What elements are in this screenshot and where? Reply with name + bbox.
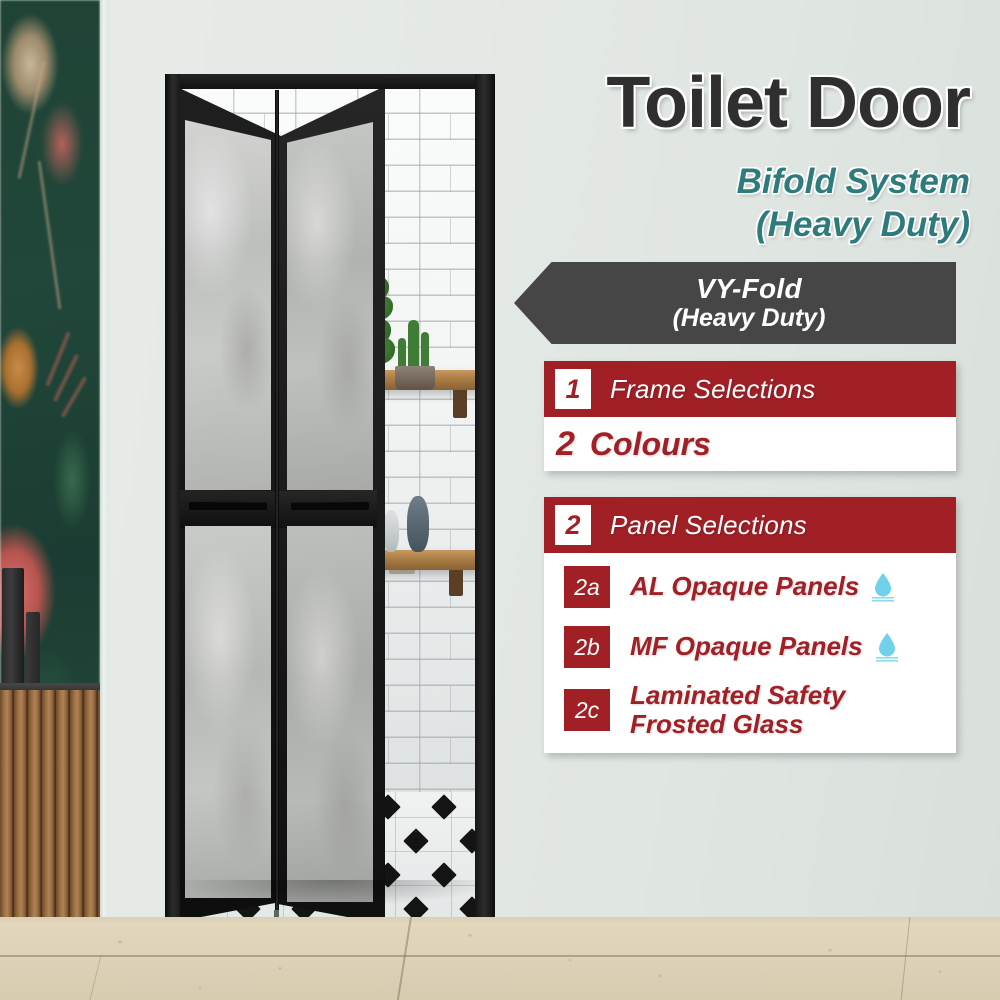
- promo-panel: Toilet Door Bifold System (Heavy Duty) V…: [500, 0, 1000, 1000]
- product-title: Toilet Door: [500, 62, 970, 144]
- door-frame-top: [165, 74, 495, 89]
- frame-selections-card: 1 Frame Selections 2 Colours: [544, 361, 956, 471]
- subtitle-line-2: (Heavy Duty): [500, 203, 970, 246]
- door-midrail-groove-right: [291, 502, 369, 510]
- panel-selections-card: 2 Panel Selections 2a AL Opaque Panels 2…: [544, 497, 956, 753]
- panel-option-2a[interactable]: 2a AL Opaque Panels: [544, 561, 956, 613]
- panel-selections-header: 2 Panel Selections: [544, 497, 956, 553]
- water-drop-icon: [870, 572, 896, 602]
- frame-colour-label: Colours: [590, 426, 711, 463]
- subtitle-line-1: Bifold System: [500, 160, 970, 203]
- door-frame-left: [165, 74, 180, 924]
- panel-option-2b-badge: 2b: [564, 626, 610, 668]
- frame-step-number: 1: [555, 369, 591, 409]
- panel-option-2b-label: MF Opaque Panels: [630, 632, 863, 661]
- panel-option-2a-badge: 2a: [564, 566, 610, 608]
- panel-option-2b[interactable]: 2b MF Opaque Panels: [544, 621, 956, 673]
- wood-slat-console: [0, 690, 100, 920]
- product-subtitle: Bifold System (Heavy Duty): [500, 160, 970, 247]
- frame-colour-row: 2 Colours: [544, 417, 956, 471]
- console-object-short: [26, 612, 40, 688]
- water-drop-icon: [874, 632, 900, 662]
- door-panel-left-upper: [185, 120, 271, 490]
- door-panel-right-upper: [287, 122, 373, 490]
- model-ribbon-banner: VY-Fold (Heavy Duty): [514, 262, 956, 344]
- panel-option-2c-label: Laminated Safety Frosted Glass: [630, 681, 845, 739]
- panel-step-number: 2: [555, 505, 591, 545]
- frame-selections-title: Frame Selections: [610, 374, 816, 405]
- door-center-hinge: [275, 90, 279, 924]
- panel-option-2c-badge: 2c: [564, 689, 610, 731]
- door-midrail-groove-left: [189, 502, 267, 510]
- door-floor-shadow: [175, 880, 495, 906]
- door-frame-right: [475, 74, 495, 924]
- panel-option-2c-label-line1: Laminated Safety: [630, 681, 845, 710]
- model-duty-rating: (Heavy Duty): [645, 304, 826, 332]
- panel-selections-title: Panel Selections: [610, 510, 807, 541]
- bifold-door: [165, 74, 495, 924]
- frame-colour-count: 2: [556, 425, 575, 464]
- panel-option-2c[interactable]: 2c Laminated Safety Frosted Glass: [544, 681, 956, 739]
- door-panel-right-lower: [287, 526, 373, 902]
- console-object-tall: [2, 568, 24, 688]
- model-name: VY-Fold: [668, 274, 802, 303]
- frame-selections-header: 1 Frame Selections: [544, 361, 956, 417]
- door-panel-left-lower: [185, 526, 271, 898]
- wall-corner-edge: [100, 0, 109, 1000]
- panel-option-2a-label: AL Opaque Panels: [630, 572, 859, 601]
- panel-option-2c-label-line2: Frosted Glass: [630, 710, 845, 739]
